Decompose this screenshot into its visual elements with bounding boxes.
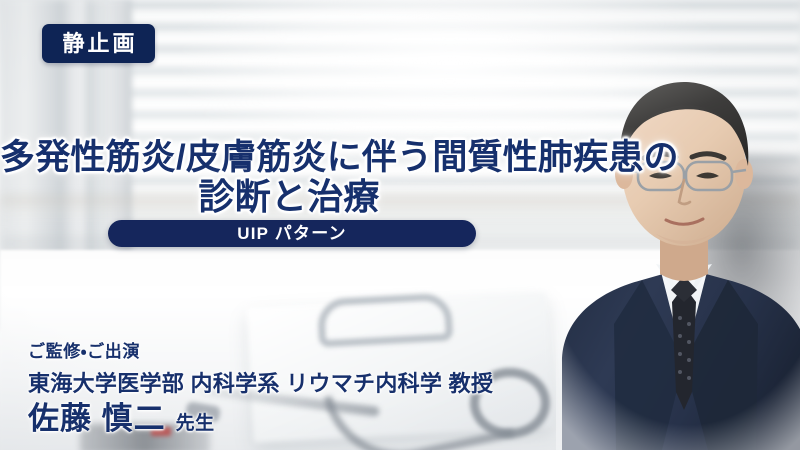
credits-affiliation: 東海大学医学部 内科学系 リウマチ内科学 教授: [28, 371, 493, 397]
credits-presenter-name: 佐藤 慎二: [28, 402, 166, 436]
page-title: 多発性筋炎/皮膚筋炎に伴う間質性肺疾患の 診断と治療: [0, 138, 578, 218]
credits-name-row: 佐藤 慎二 先生: [28, 402, 493, 436]
subtitle-pill: UIP パターン: [108, 220, 476, 247]
title-card-slide: 静止画 多発性筋炎/皮膚筋炎に伴う間質性肺疾患の 診断と治療 UIP パターン …: [0, 0, 800, 450]
page-title-line-1: 多発性筋炎/皮膚筋炎に伴う間質性肺疾患の: [0, 138, 578, 177]
status-badge-label: 静止画: [59, 33, 137, 55]
credits-role-label: ご監修・ご出演: [28, 340, 493, 365]
credits-honorific: 先生: [176, 408, 215, 435]
subtitle-pill-label: UIP パターン: [237, 225, 347, 242]
credits-block: ご監修・ご出演 東海大学医学部 内科学系 リウマチ内科学 教授 佐藤 慎二 先生: [28, 340, 493, 436]
presenter-portrait: [556, 62, 800, 450]
status-badge: 静止画: [42, 24, 155, 63]
page-title-line-2: 診断と治療: [0, 177, 578, 217]
